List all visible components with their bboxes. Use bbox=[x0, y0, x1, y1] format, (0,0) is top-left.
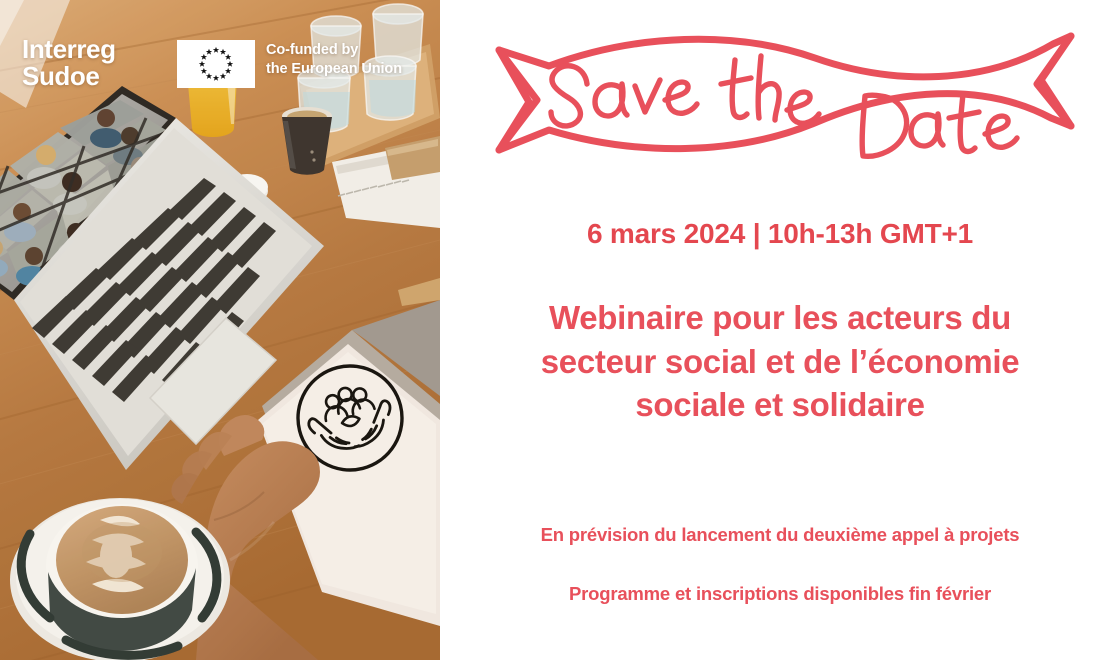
interreg-logo-line1: Interreg bbox=[22, 36, 116, 63]
headline-line-1: Webinaire pour les acteurs du bbox=[480, 296, 1080, 340]
content-panel: 6 mars 2024 | 10h-13h GMT+1 Webinaire po… bbox=[440, 0, 1120, 660]
headline-line-3: sociale et solidaire bbox=[480, 383, 1080, 427]
photo-panel: Interreg Sudoe bbox=[0, 0, 440, 660]
interreg-logo-line2: Sudoe bbox=[22, 63, 116, 90]
logo-row: Interreg Sudoe bbox=[0, 0, 440, 120]
save-the-date-poster: Interreg Sudoe bbox=[0, 0, 1120, 660]
ribbon-banner-icon bbox=[485, 22, 1085, 182]
page-title: Webinaire pour les acteurs du secteur so… bbox=[480, 296, 1080, 427]
registration-note: Programme et inscriptions disponibles fi… bbox=[440, 583, 1120, 605]
interreg-sudoe-logo: Interreg Sudoe bbox=[22, 36, 116, 91]
eu-caption-line1: Co-funded by bbox=[266, 41, 402, 60]
eu-funding-caption: Co-funded by the European Union bbox=[266, 41, 402, 80]
eu-caption-line2: the European Union bbox=[266, 60, 402, 79]
call-for-projects-note: En prévision du lancement du deuxième ap… bbox=[440, 524, 1120, 546]
eu-flag-icon bbox=[177, 40, 255, 88]
headline-line-2: secteur social et de l’économie bbox=[480, 340, 1080, 384]
event-date: 6 mars 2024 | 10h-13h GMT+1 bbox=[440, 218, 1120, 250]
